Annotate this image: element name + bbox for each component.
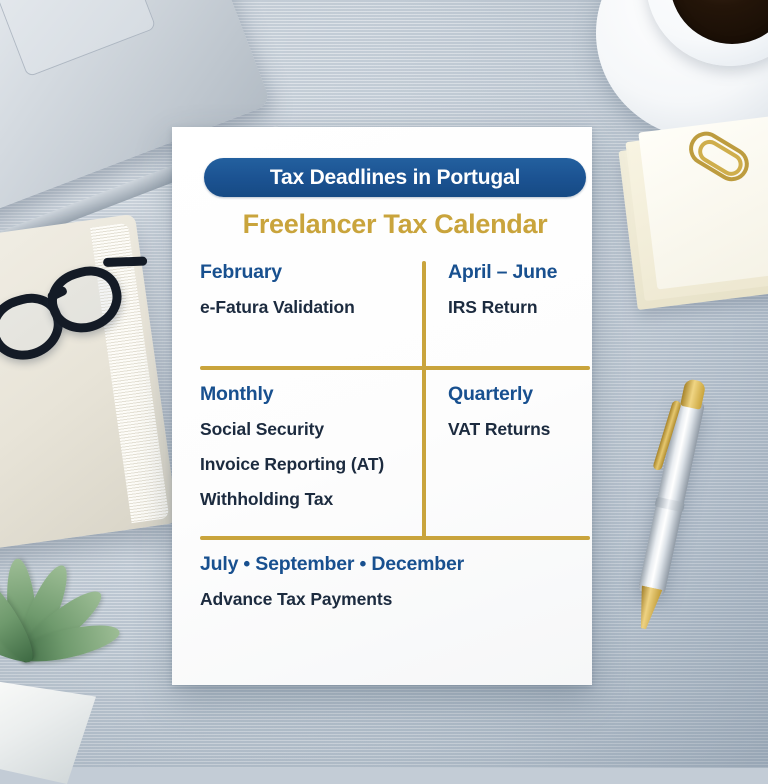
- cell-item: Advance Tax Payments: [200, 589, 590, 610]
- notepad: [625, 117, 768, 329]
- poster-sheet: Tax Deadlines in Portugal Freelancer Tax…: [172, 127, 592, 685]
- poster-subtitle: Freelancer Tax Calendar: [186, 209, 604, 240]
- cell-item: e-Fatura Validation: [200, 297, 355, 318]
- cell-heading: April – June: [448, 261, 557, 284]
- cell-heading: Quarterly: [448, 383, 550, 406]
- cell-heading: July • September • December: [200, 553, 590, 576]
- cell-item: Social Security: [200, 419, 384, 440]
- cell-april-june: April – June IRS Return: [448, 261, 557, 318]
- grid-divider-vertical: [422, 261, 426, 540]
- cell-heading: Monthly: [200, 383, 384, 406]
- cell-quarterly: Quarterly VAT Returns: [448, 383, 550, 440]
- cell-february: February e-Fatura Validation: [200, 261, 355, 318]
- cell-heading: February: [200, 261, 355, 284]
- eyeglasses-temple: [103, 256, 147, 267]
- cell-item: Withholding Tax: [200, 489, 384, 510]
- poster-content: Tax Deadlines in Portugal Freelancer Tax…: [186, 143, 578, 671]
- poster-title: Tax Deadlines in Portugal: [270, 166, 520, 190]
- grid-divider-horizontal-1: [200, 366, 590, 370]
- poster-title-badge: Tax Deadlines in Portugal: [204, 158, 586, 197]
- pen-tip: [633, 585, 662, 630]
- cell-item: IRS Return: [448, 297, 557, 318]
- deadline-grid: February e-Fatura Validation April – Jun…: [200, 261, 590, 631]
- potted-plant: [0, 560, 168, 780]
- cell-monthly: Monthly Social Security Invoice Reportin…: [200, 383, 384, 510]
- cell-item: VAT Returns: [448, 419, 550, 440]
- grid-divider-horizontal-2: [200, 536, 590, 540]
- cell-item: Invoice Reporting (AT): [200, 454, 384, 475]
- plant-pot: [0, 680, 96, 784]
- cell-advance-payments: July • September • December Advance Tax …: [200, 553, 590, 610]
